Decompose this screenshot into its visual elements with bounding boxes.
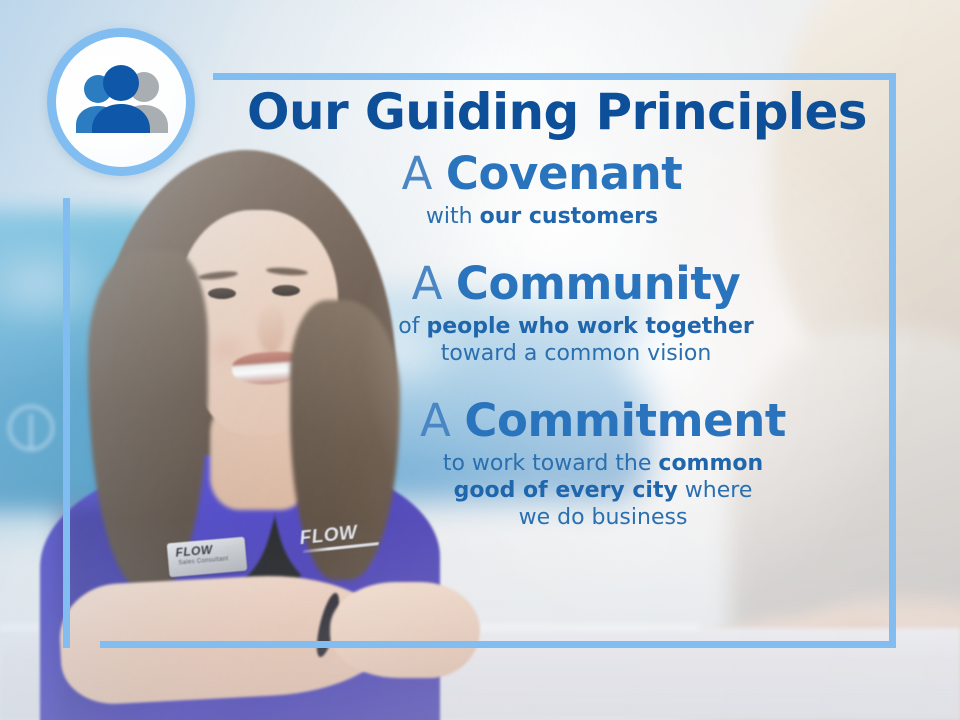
principle-community-article: A [412, 257, 442, 310]
principle-covenant: A Covenant with our customers [198, 150, 886, 230]
employee-clasped-hands [330, 582, 480, 678]
employee-name-badge: FLOW Sales Consultant [167, 537, 248, 578]
subtext-line: toward a common vision [266, 340, 886, 367]
principle-community: A Community of people who work togethert… [266, 260, 886, 367]
principle-community-word: Community [456, 257, 740, 310]
guiding-principles-graphic: FLOW Sales Consultant FLOW [0, 0, 960, 720]
copy-block: Our Guiding Principles A Covenant with o… [170, 86, 886, 532]
subtext-line: to work toward the common [320, 450, 886, 477]
subtext-line: with our customers [198, 203, 886, 230]
principle-community-subtext: of people who work togethertoward a comm… [266, 313, 886, 368]
subtext-line: of people who work together [266, 313, 886, 340]
principle-commitment: A Commitment to work toward the commongo… [320, 397, 886, 531]
principle-community-heading: A Community [266, 260, 886, 308]
principle-covenant-article: A [402, 147, 432, 200]
principle-commitment-subtext: to work toward the commongood of every c… [320, 450, 886, 532]
subtext-line: good of every city where [320, 477, 886, 504]
principle-covenant-subtext: with our customers [198, 203, 886, 230]
blurred-car-emblem [8, 405, 54, 451]
principle-covenant-heading: A Covenant [198, 150, 886, 198]
principle-covenant-word: Covenant [446, 147, 683, 200]
subtext-line: we do business [320, 504, 886, 531]
people-group-icon [69, 63, 173, 141]
page-title: Our Guiding Principles [228, 86, 886, 138]
principle-commitment-article: A [420, 394, 450, 447]
principle-commitment-heading: A Commitment [320, 397, 886, 445]
principle-commitment-word: Commitment [464, 394, 786, 447]
